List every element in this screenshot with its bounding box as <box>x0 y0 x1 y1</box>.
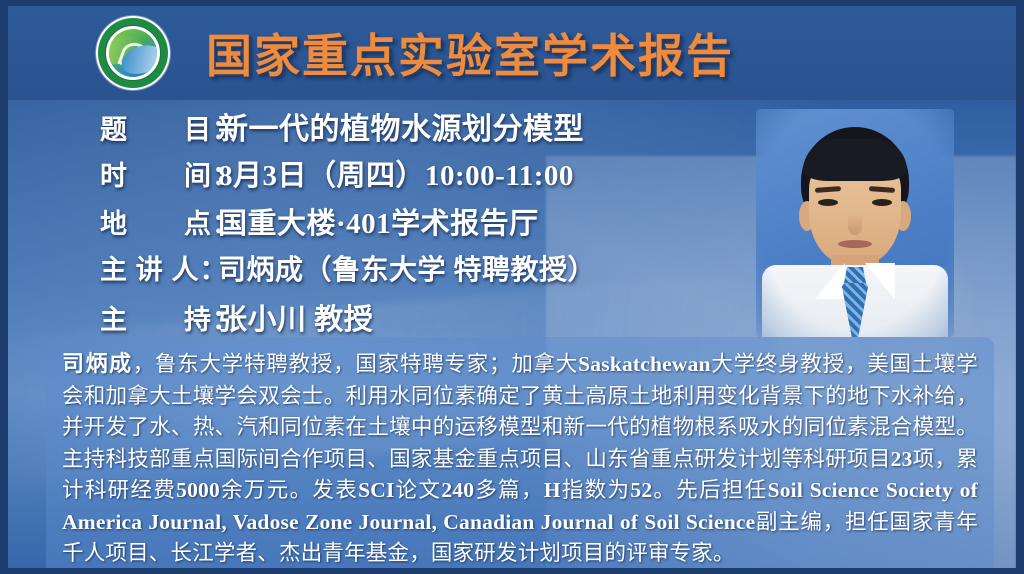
info-value-topic: 新一代的植物水源划分模型 <box>218 104 584 148</box>
biography-segment: 。先后担任 <box>652 478 767 502</box>
biography-segment: SCI <box>358 478 394 502</box>
laboratory-logo-icon <box>96 16 170 90</box>
portrait-eye-left <box>818 199 838 206</box>
biography-segment: 5000 <box>176 478 220 502</box>
portrait-collar-right <box>865 263 895 299</box>
biography-segment: H <box>544 478 561 502</box>
biography-segment: 指数为 <box>561 478 631 502</box>
info-row-speaker: 主 讲 人： 司炳成（鲁东大学 特聘教授） <box>100 248 596 296</box>
biography-segment: 论文 <box>395 478 442 502</box>
biography-segment: 240 <box>441 478 474 502</box>
biography-segment: Saskatchewan <box>578 352 711 376</box>
poster-title: 国家重点实验室学术报告 <box>206 20 734 86</box>
biography-segment: 23 <box>891 447 913 471</box>
portrait-nose <box>848 213 862 235</box>
info-label-speaker: 主 讲 人： <box>100 248 218 287</box>
info-label-host: 主 持： <box>100 298 218 337</box>
info-value-host: 张小川 教授 <box>218 296 373 338</box>
biography-text: ，鲁东大学特聘教授，国家特聘专家；加拿大Saskatchewan大学终身教授，美… <box>62 352 978 565</box>
logo-swirl-icon <box>118 39 153 73</box>
biography-segment: 52 <box>630 478 652 502</box>
seminar-info-block: 题 目： 新一代的植物水源划分模型 时 间： 8月3日（周四）10:00-11:… <box>100 104 596 344</box>
info-row-location: 地 点： 国重大楼·401学术报告厅 <box>100 200 596 248</box>
portrait-hair-front <box>803 139 907 181</box>
biography-segment: 多篇， <box>474 478 544 502</box>
info-row-topic: 题 目： 新一代的植物水源划分模型 <box>100 104 596 152</box>
biography-segment: ， <box>133 352 155 376</box>
seminar-poster: 国家重点实验室学术报告 题 目： 新一代的植物水源划分模型 时 间： 8月3日（… <box>0 0 1024 574</box>
speaker-biography-panel: 司炳成，鲁东大学特聘教授，国家特聘专家；加拿大Saskatchewan大学终身教… <box>46 337 994 574</box>
info-label-time: 时 间： <box>100 154 218 193</box>
info-value-speaker: 司炳成（鲁东大学 特聘教授） <box>218 248 596 288</box>
biography-speaker-name: 司炳成 <box>62 352 133 377</box>
portrait-necktie-knot <box>844 267 866 283</box>
biography-segment: 鲁东大学特聘教授，国家特聘专家；加拿大 <box>155 352 578 376</box>
portrait-mouth <box>838 240 872 248</box>
info-label-location: 地 点： <box>100 202 218 241</box>
portrait-collar-left <box>815 263 845 299</box>
biography-segment: 余万元。发表 <box>220 478 358 502</box>
poster-header: 国家重点实验室学术报告 <box>8 6 1016 100</box>
info-value-time: 8月3日（周四）10:00-11:00 <box>218 152 574 194</box>
speaker-portrait <box>756 109 954 337</box>
info-row-time: 时 间： 8月3日（周四）10:00-11:00 <box>100 152 596 200</box>
info-value-location: 国重大楼·401学术报告厅 <box>218 200 539 242</box>
info-label-topic: 题 目： <box>100 108 218 147</box>
logo-emblem <box>109 29 157 77</box>
portrait-eye-right <box>872 199 892 206</box>
